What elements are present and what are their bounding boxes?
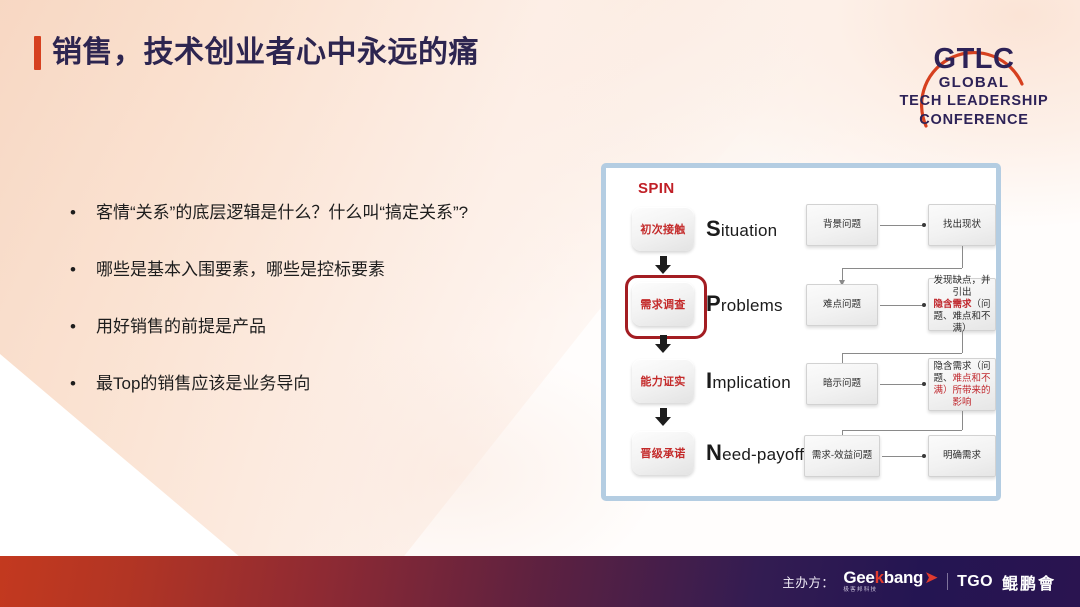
flow-box-left-2: 难点问题 [806,284,878,326]
bullet-list: • 客情“关系”的底层逻辑是什么？什么叫“搞定关系”? • 哪些是基本入围要素，… [66,200,586,428]
flow-elbow-h-2 [842,353,962,354]
bullet-text: 客情“关系”的底层逻辑是什么？什么叫“搞定关系”? [96,200,468,226]
spin-english-rest: eed-payoff [722,445,804,464]
flow-box-right-1: 找出现状 [928,204,996,246]
flow-box-text: 发现缺点，并引出隐含需求（问题、难点和不满） [929,275,995,335]
spin-title: SPIN [638,180,675,197]
geekbang-part2: bang [884,569,923,586]
spin-english-situation: Situation [706,216,777,242]
list-item: • 最Top的销售应该是业务导向 [66,371,586,397]
flow-box-right-3: 隐含需求（问题、难点和不满）所带来的影响 [928,358,996,411]
spin-stage-need-payoff: 晋级承诺 [632,431,694,475]
spin-english-initial: N [706,440,722,465]
flow-elbow-v-1 [962,246,963,268]
tgo-wordmark: TGO [957,573,993,591]
bullet-marker: • [66,371,80,397]
flow-elbow-h-1 [842,268,962,269]
geekbang-subtitle: 极客邦科技 [843,588,877,594]
flow-box-text: 暗示问题 [823,378,861,390]
spin-arrow-down-3 [655,408,671,426]
flow-connector-dot-1 [922,223,926,227]
flow-connector-3 [880,384,924,385]
spin-english-rest: mplication [712,373,791,392]
spin-stage-label: 能力证实 [640,373,685,389]
flow-box-text: 明确需求 [943,450,981,462]
flow-elbow-v-3 [962,411,963,430]
flow-box-left-1: 背景问题 [806,204,878,246]
spin-stage-implication: 能力证实 [632,359,694,403]
flow-connector-dot-2 [922,303,926,307]
logo-gtlc-text: GTLC [890,43,1058,76]
geekbang-logo: Geekbang➤ 极客邦科技 [843,569,938,594]
spin-stage-situation: 初次接触 [632,207,694,251]
spin-english-initial: P [706,291,721,316]
bullet-text: 哪些是基本入围要素，哪些是控标要素 [96,257,385,283]
geekbang-arrow-icon: ➤ [924,569,938,586]
logo-global-text: GLOBAL [890,74,1058,91]
spin-stage-label: 晋级承诺 [640,445,685,461]
slide-canvas: 销售，技术创业者心中永远的痛 GTLC GLOBAL TECH LEADERSH… [0,0,1080,607]
page-title: 销售，技术创业者心中永远的痛 [34,36,479,70]
flow-box-text: 隐含需求（问题、难点和不满）所带来的影响 [929,361,995,409]
flow-elbow-v-2 [962,331,963,353]
gtlc-logo: GTLC GLOBAL TECH LEADERSHIP CONFERENCE [890,22,1058,140]
flow-connector-dot-3 [922,382,926,386]
flow-box-left-3: 暗示问题 [806,363,878,405]
flow-box-text: 需求-效益问题 [812,450,872,462]
title-accent-bar [34,36,41,70]
spin-arrow-down-1 [655,256,671,274]
spin-stage-problems: 需求调查 [632,282,694,326]
footer-sponsors: 主办方： Geekbang➤ 极客邦科技 TGO 鲲鹏會 [782,556,1056,607]
geekbang-wordmark: Geekbang➤ [843,569,938,586]
spin-english-need-payoff: Need-payoff [706,440,804,466]
list-item: • 用好销售的前提是产品 [66,314,586,340]
spin-english-rest: ituation [721,221,777,240]
spin-english-initial: S [706,216,721,241]
list-item: • 客情“关系”的底层逻辑是什么？什么叫“搞定关系”? [66,200,586,226]
spin-arrow-down-2 [655,335,671,353]
flow-text-red: 隐含需求 [933,299,971,310]
flow-connector-4 [882,456,924,457]
spin-stage-label: 初次接触 [640,221,685,237]
list-item: • 哪些是基本入围要素，哪些是控标要素 [66,257,586,283]
logo-tech-leadership-text: TECH LEADERSHIP [890,93,1058,109]
footer-bar: 主办方： Geekbang➤ 极客邦科技 TGO 鲲鹏會 [0,556,1080,607]
bullet-marker: • [66,314,80,340]
flow-box-right-4: 明确需求 [928,435,996,477]
geekbang-part1: Gee [843,569,874,586]
flow-box-text: 难点问题 [823,299,861,311]
footer-host-label: 主办方： [782,572,834,591]
flow-box-text: 找出现状 [943,219,981,231]
spin-english-rest: roblems [721,296,783,315]
flow-text-plain-a: 发现缺点，并引出 [933,275,990,298]
bullet-text: 最Top的销售应该是业务导向 [96,371,310,397]
spin-english-problems: Problems [706,291,783,317]
flow-box-left-4: 需求-效益问题 [804,435,880,477]
flow-box-text: 背景问题 [823,219,861,231]
flow-connector-dot-4 [922,454,926,458]
bullet-text: 用好销售的前提是产品 [96,314,266,340]
flow-connector-1 [880,225,924,226]
spin-english-implication: Implication [706,368,791,394]
logo-conference-text: CONFERENCE [890,112,1058,128]
bullet-marker: • [66,257,80,283]
flow-connector-2 [880,305,924,306]
spin-diagram-image: SPIN 初次接触 Situation 需求调查 Problems [601,163,1001,501]
geekbang-k: k [875,569,884,586]
spin-stage-label: 需求调查 [640,296,685,312]
kunpeng-wordmark: 鲲鹏會 [1002,570,1056,594]
title-text: 销售，技术创业者心中永远的痛 [52,38,479,68]
footer-divider [947,573,948,590]
flow-box-right-2: 发现缺点，并引出隐含需求（问题、难点和不满） [928,278,996,331]
bullet-marker: • [66,200,80,226]
flow-elbow-h-3 [842,430,962,431]
